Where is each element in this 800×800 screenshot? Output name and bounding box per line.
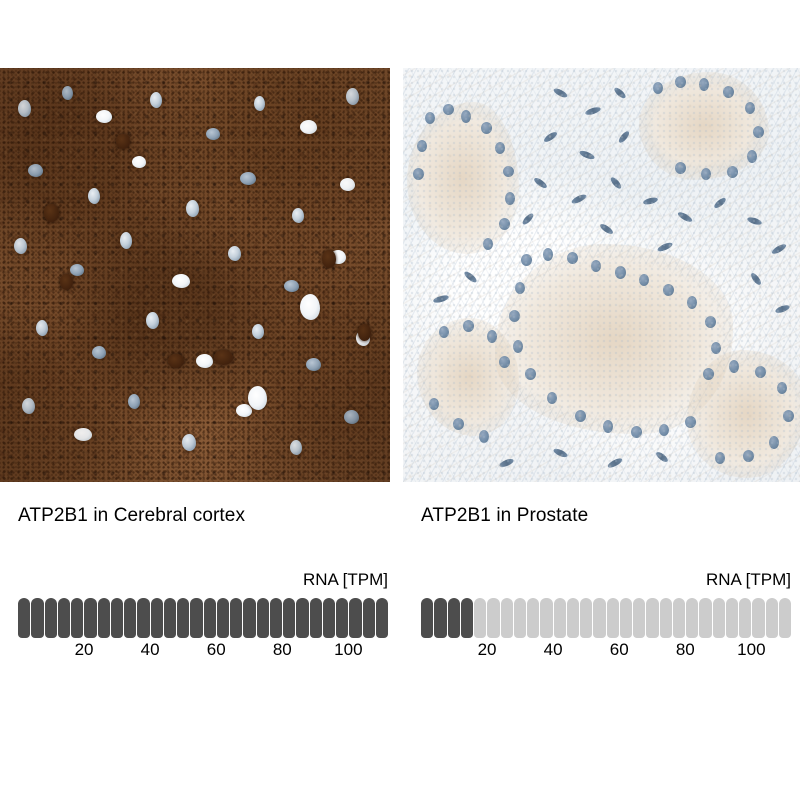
micrograph-vignette	[0, 68, 390, 482]
rna-meter-segment	[310, 598, 322, 638]
rna-meter-segment	[363, 598, 375, 638]
rna-meter-segment	[540, 598, 552, 638]
rna-meter-segment	[58, 598, 70, 638]
rna-meter-segment	[434, 598, 446, 638]
rna-meter-segment	[283, 598, 295, 638]
rna-meter-segment	[487, 598, 499, 638]
rna-meter-segment	[527, 598, 539, 638]
rna-meter-segment	[151, 598, 163, 638]
rna-meter-segment	[607, 598, 619, 638]
rna-meter-segment	[243, 598, 255, 638]
rna-meter-segment	[124, 598, 136, 638]
rna-meter-segment	[421, 598, 433, 638]
axis-tick-label: 20	[75, 640, 94, 660]
rna-meter-segment	[18, 598, 30, 638]
rna-meter-segment	[336, 598, 348, 638]
cerebral-cortex-canvas	[0, 68, 390, 482]
rna-meter-segment	[204, 598, 216, 638]
rna-meter-segment	[660, 598, 672, 638]
micrograph-row	[0, 68, 800, 482]
rna-meter-segment	[673, 598, 685, 638]
caption-prostate: ATP2B1 in Prostate	[421, 505, 588, 527]
axis-tick-label: 40	[544, 640, 563, 660]
rna-unit-label: RNA [TPM]	[18, 570, 388, 592]
rna-meter-segment	[739, 598, 751, 638]
rna-meter-prostate: RNA [TPM] 20406080100	[421, 570, 791, 664]
rna-meter-segment	[474, 598, 486, 638]
rna-meter-segment	[349, 598, 361, 638]
rna-meter-segment	[779, 598, 791, 638]
rna-meter-segment	[699, 598, 711, 638]
micrograph-cerebral-cortex[interactable]	[0, 68, 390, 482]
rna-meter-segment	[593, 598, 605, 638]
rna-meter-segment	[376, 598, 388, 638]
rna-meter-segment	[98, 598, 110, 638]
rna-meter-segment	[323, 598, 335, 638]
rna-meter-segment	[633, 598, 645, 638]
rna-meter-segment	[45, 598, 57, 638]
rna-meter-segment	[257, 598, 269, 638]
caption-cerebral-cortex: ATP2B1 in Cerebral cortex	[18, 505, 245, 527]
rna-meter-segment	[111, 598, 123, 638]
prostate-canvas	[403, 68, 800, 482]
axis-tick-label: 100	[334, 640, 362, 660]
rna-meter-segment	[164, 598, 176, 638]
axis-tick-label: 80	[676, 640, 695, 660]
rna-meter-segment	[71, 598, 83, 638]
rna-meter-cerebral-cortex: RNA [TPM] 20406080100	[18, 570, 388, 664]
rna-meter-segment	[620, 598, 632, 638]
axis-tick-label: 100	[737, 640, 765, 660]
rna-meter-axis: 20406080100	[18, 640, 388, 664]
prostate-grain-texture	[403, 68, 800, 482]
rna-meter-segment	[177, 598, 189, 638]
axis-tick-label: 60	[610, 640, 629, 660]
rna-meter-segment	[554, 598, 566, 638]
rna-meter-segment	[217, 598, 229, 638]
rna-meter-segment	[646, 598, 658, 638]
axis-tick-label: 60	[207, 640, 226, 660]
rna-meter-segment	[448, 598, 460, 638]
rna-meter-segment	[461, 598, 473, 638]
rna-meter-segment	[84, 598, 96, 638]
rna-meter-segment	[514, 598, 526, 638]
rna-meter-segment	[137, 598, 149, 638]
rna-meter-segment	[752, 598, 764, 638]
rna-meter-segment	[726, 598, 738, 638]
rna-meter-segment	[31, 598, 43, 638]
rna-meter-segment	[270, 598, 282, 638]
rna-meter-segment	[713, 598, 725, 638]
rna-meter-axis: 20406080100	[421, 640, 791, 664]
rna-meter-bar[interactable]	[18, 598, 388, 638]
rna-unit-label: RNA [TPM]	[421, 570, 791, 592]
rna-meter-segment	[766, 598, 778, 638]
rna-meter-bar[interactable]	[421, 598, 791, 638]
axis-tick-label: 40	[141, 640, 160, 660]
axis-tick-label: 20	[478, 640, 497, 660]
rna-meter-segment	[501, 598, 513, 638]
axis-tick-label: 80	[273, 640, 292, 660]
rna-meter-segment	[296, 598, 308, 638]
rna-meter-segment	[567, 598, 579, 638]
rna-meter-segment	[190, 598, 202, 638]
rna-meter-segment	[686, 598, 698, 638]
rna-meter-segment	[230, 598, 242, 638]
rna-meter-segment	[580, 598, 592, 638]
micrograph-prostate[interactable]	[403, 68, 800, 482]
